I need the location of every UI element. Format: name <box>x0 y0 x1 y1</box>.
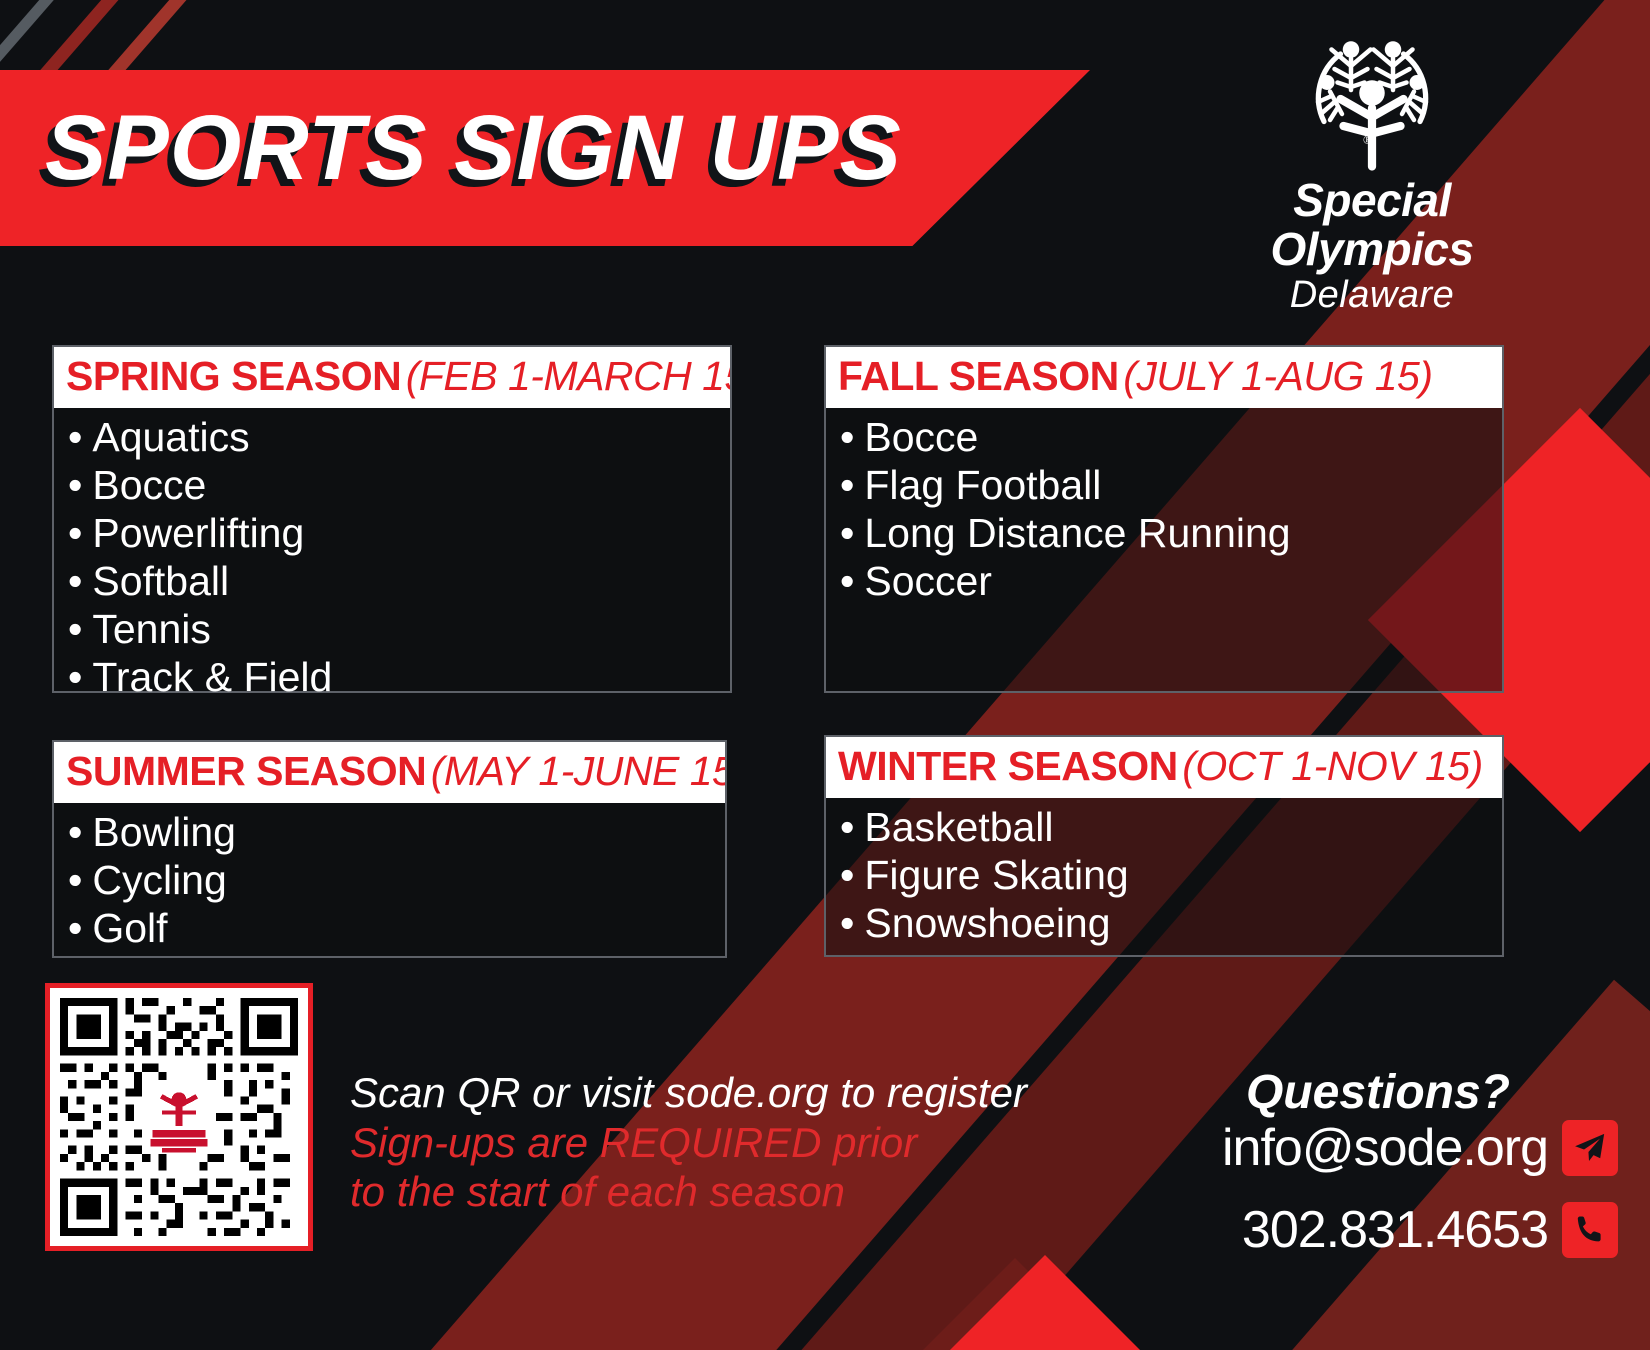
sport-label: Bocce <box>864 414 978 460</box>
bullet-icon: • <box>68 606 82 652</box>
signup-required-line2: to the start of each season <box>350 1167 1027 1217</box>
list-item: •Track & Field <box>68 654 730 702</box>
list-item: •Bocce <box>68 462 730 510</box>
logo-name-line2: Olympics <box>1212 227 1532 272</box>
season-dates-spring: (FEB 1-MARCH 15) <box>406 353 730 399</box>
list-item: •Bowling <box>68 809 725 857</box>
bullet-icon: • <box>840 852 854 898</box>
sport-label: Long Distance Running <box>864 510 1290 556</box>
bullet-icon: • <box>840 510 854 556</box>
bullet-icon: • <box>840 804 854 850</box>
sport-label: Golf <box>92 905 167 951</box>
phone-icon[interactable] <box>1562 1202 1618 1258</box>
bullet-icon: • <box>68 857 82 903</box>
list-item: •Soccer <box>840 558 1502 606</box>
register-instructions: Scan QR or visit sode.org to register Si… <box>350 1068 1027 1217</box>
logo-subtitle: Delaware <box>1212 274 1532 317</box>
list-item: •Cycling <box>68 857 725 905</box>
season-card-summer: SUMMER SEASON (MAY 1-JUNE 15) •Bowling •… <box>52 740 727 958</box>
qr-code[interactable] <box>45 983 313 1251</box>
scan-instruction: Scan QR or visit sode.org to register <box>350 1068 1027 1118</box>
list-item: •Golf <box>68 905 725 953</box>
sports-signup-poster: SPORTS SIGN UPS <box>0 0 1650 1350</box>
bullet-icon: • <box>840 414 854 460</box>
bullet-icon: • <box>840 462 854 508</box>
bullet-icon: • <box>68 809 82 855</box>
list-item: •Figure Skating <box>840 852 1502 900</box>
sport-label: Cycling <box>92 857 226 903</box>
list-item: •Aquatics <box>68 414 730 462</box>
sport-label: Snowshoeing <box>864 900 1110 946</box>
season-dates-summer: (MAY 1-JUNE 15) <box>431 748 725 794</box>
list-item: •Powerlifting <box>68 510 730 558</box>
list-item: •Softball <box>68 558 730 606</box>
questions-heading: Questions? <box>1246 1065 1510 1120</box>
sport-list-fall: •Bocce •Flag Football •Long Distance Run… <box>826 408 1502 616</box>
sport-label: Tennis <box>92 606 211 652</box>
bullet-icon: • <box>840 900 854 946</box>
season-name-summer: SUMMER SEASON <box>66 748 426 794</box>
special-olympics-figures-mark: ® <box>1297 24 1447 174</box>
registered-mark: ® <box>1363 133 1373 147</box>
red-triangle-shape <box>940 1255 1150 1350</box>
red-triangle-shadow <box>915 1258 1115 1350</box>
sport-list-spring: •Aquatics •Bocce •Powerlifting •Softball… <box>54 408 730 712</box>
sport-label: Track & Field <box>92 654 332 700</box>
list-item: •Flag Football <box>840 462 1502 510</box>
season-card-fall: FALL SEASON (JULY 1-AUG 15) •Bocce •Flag… <box>824 345 1504 693</box>
list-item: •Tennis <box>68 606 730 654</box>
contact-email-row[interactable]: info@sode.org <box>1222 1118 1618 1178</box>
phone-number[interactable]: 302.831.4653 <box>1242 1200 1548 1260</box>
qr-code-matrix <box>60 998 298 1236</box>
sport-label: Basketball <box>864 804 1053 850</box>
sport-label: Bocce <box>92 462 206 508</box>
season-name-spring: SPRING SEASON <box>66 353 401 399</box>
bullet-icon: • <box>68 510 82 556</box>
list-item: •Basketball <box>840 804 1502 852</box>
page-title: SPORTS SIGN UPS <box>45 96 902 201</box>
season-dates-fall: (JULY 1-AUG 15) <box>1123 353 1432 399</box>
season-card-spring: SPRING SEASON (FEB 1-MARCH 15) •Aquatics… <box>52 345 732 693</box>
sport-list-winter: •Basketball •Figure Skating •Snowshoeing <box>826 798 1502 958</box>
season-header-spring: SPRING SEASON (FEB 1-MARCH 15) <box>54 347 730 408</box>
season-header-fall: FALL SEASON (JULY 1-AUG 15) <box>826 347 1502 408</box>
bullet-icon: • <box>68 414 82 460</box>
paper-plane-icon[interactable] <box>1562 1120 1618 1176</box>
bullet-icon: • <box>68 905 82 951</box>
sport-label: Powerlifting <box>92 510 304 556</box>
season-dates-winter: (OCT 1-NOV 15) <box>1182 743 1483 789</box>
season-header-winter: WINTER SEASON (OCT 1-NOV 15) <box>826 737 1502 798</box>
list-item: •Snowshoeing <box>840 900 1502 948</box>
contact-phone-row[interactable]: 302.831.4653 <box>1242 1200 1618 1260</box>
sport-label: Softball <box>92 558 229 604</box>
sport-label: Soccer <box>864 558 992 604</box>
bullet-icon: • <box>68 558 82 604</box>
sport-label: Figure Skating <box>864 852 1128 898</box>
sport-list-summer: •Bowling •Cycling •Golf <box>54 803 725 963</box>
season-card-winter: WINTER SEASON (OCT 1-NOV 15) •Basketball… <box>824 735 1504 957</box>
list-item: •Bocce <box>840 414 1502 462</box>
sport-label: Flag Football <box>864 462 1101 508</box>
season-name-winter: WINTER SEASON <box>838 743 1178 789</box>
list-item: •Long Distance Running <box>840 510 1502 558</box>
logo-name-line1: Special <box>1212 178 1532 223</box>
special-olympics-logo: ® Special Olympics Delaware <box>1212 24 1532 317</box>
bullet-icon: • <box>68 654 82 700</box>
email-address[interactable]: info@sode.org <box>1222 1118 1548 1178</box>
sport-label: Aquatics <box>92 414 249 460</box>
bullet-icon: • <box>68 462 82 508</box>
season-name-fall: FALL SEASON <box>838 353 1119 399</box>
season-header-summer: SUMMER SEASON (MAY 1-JUNE 15) <box>54 742 725 803</box>
bullet-icon: • <box>840 558 854 604</box>
signup-required-line1: Sign-ups are REQUIRED prior <box>350 1118 1027 1168</box>
sport-label: Bowling <box>92 809 236 855</box>
